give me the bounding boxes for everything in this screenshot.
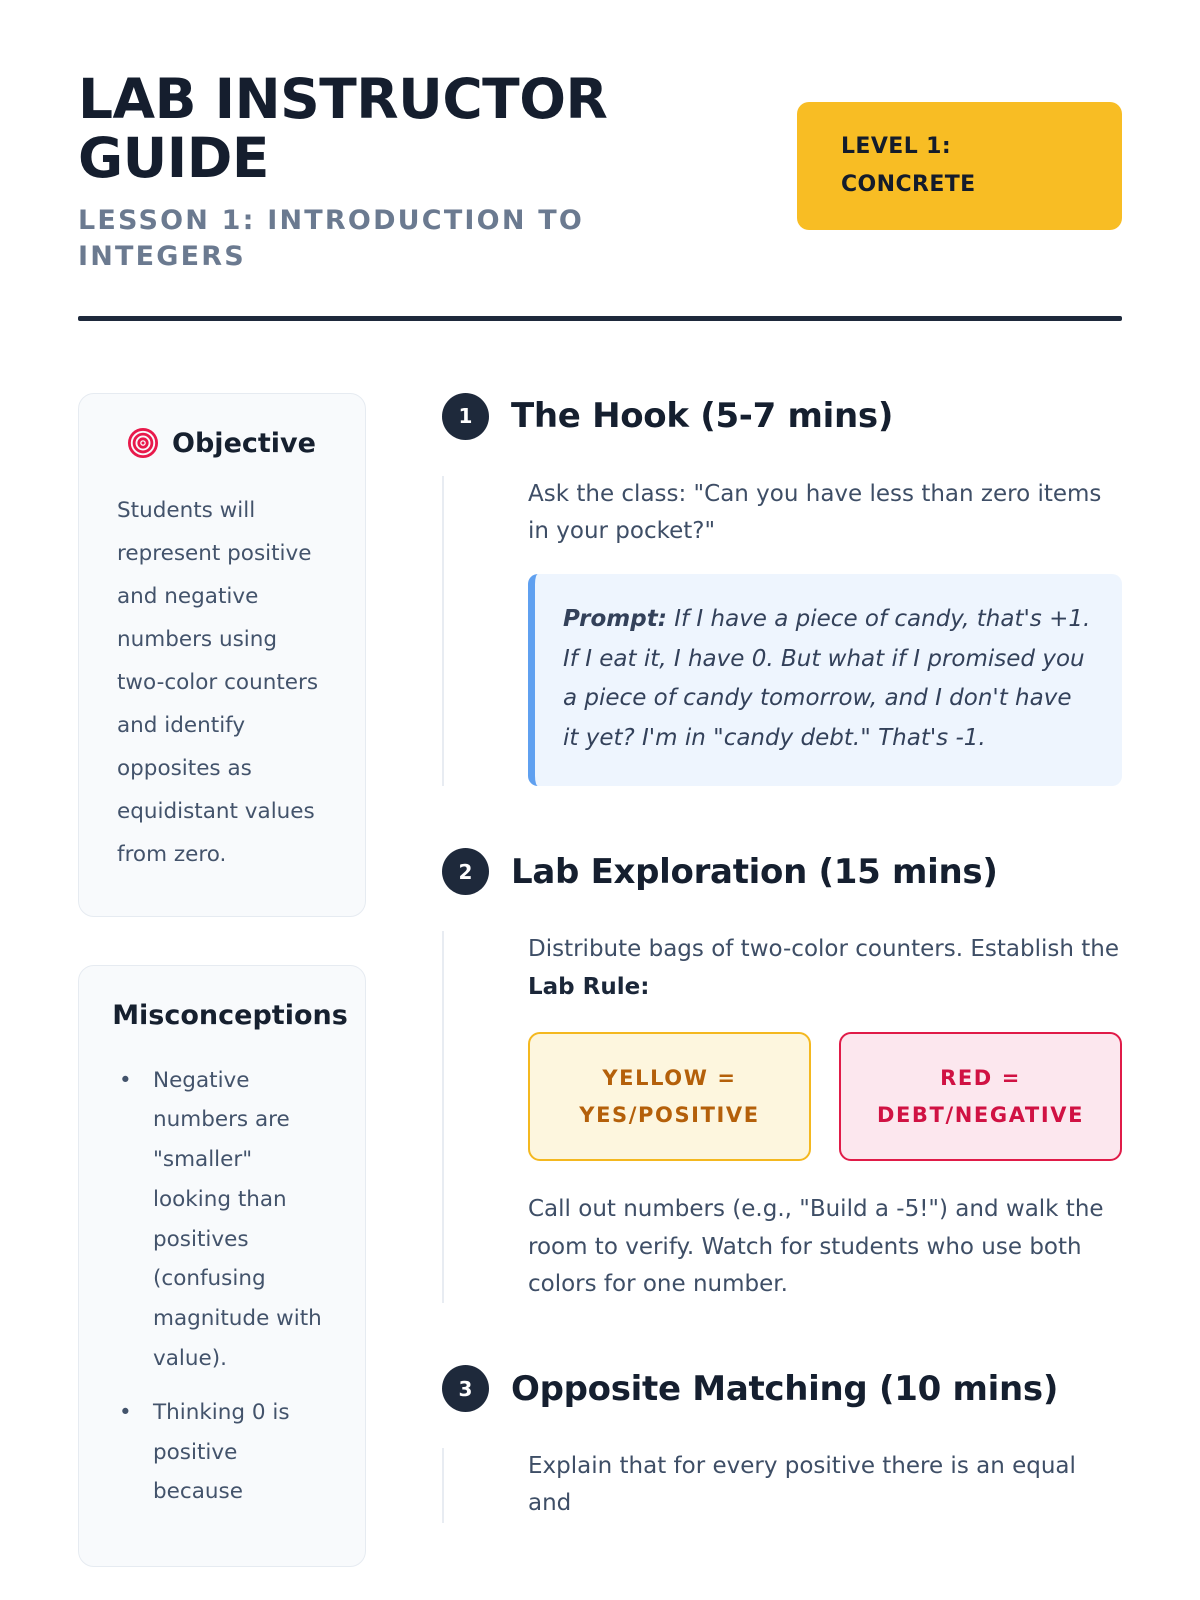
objective-card-body: Students will represent positive and neg…: [117, 489, 327, 876]
step-2-paragraph-1-text: Distribute bags of two-color counters. E…: [528, 936, 1119, 962]
step-2-paragraph-1: Distribute bags of two-color counters. E…: [528, 931, 1122, 1006]
content-grid: Objective Students will represent positi…: [78, 393, 1122, 1600]
step-3: 3 Opposite Matching (10 mins) Explain th…: [442, 1365, 1122, 1523]
misconceptions-title-text: Misconceptions: [112, 1000, 348, 1031]
step-1-content: Ask the class: "Can you have less than z…: [442, 476, 1122, 787]
step-1-number-badge: 1: [442, 393, 489, 440]
header-divider: [78, 316, 1122, 321]
rule-chip-row: YELLOW = YES/POSITIVE RED = DEBT/NEGATIV…: [528, 1032, 1122, 1162]
misconceptions-card: Misconceptions Negative numbers are "sma…: [78, 965, 366, 1567]
objective-card: Objective Students will represent positi…: [78, 393, 366, 917]
step-3-title: Opposite Matching (10 mins): [511, 1369, 1058, 1409]
step-2: 2 Lab Exploration (15 mins) Distribute b…: [442, 848, 1122, 1303]
page-header: LAB INSTRUCTOR GUIDE LESSON 1: INTRODUCT…: [78, 0, 1122, 276]
misconceptions-list: Negative numbers are "smaller" looking t…: [117, 1061, 327, 1512]
objective-card-title: Objective: [117, 428, 327, 459]
step-1: 1 The Hook (5-7 mins) Ask the class: "Ca…: [442, 393, 1122, 787]
step-2-paragraph-2: Call out numbers (e.g., "Build a -5!") a…: [528, 1191, 1122, 1303]
list-item: Negative numbers are "smaller" looking t…: [117, 1061, 327, 1379]
misconceptions-card-title: Misconceptions: [133, 1000, 327, 1031]
prompt-label: Prompt:: [563, 606, 667, 632]
step-3-content: Explain that for every positive there is…: [442, 1448, 1122, 1523]
step-2-header: 2 Lab Exploration (15 mins): [442, 848, 1122, 895]
page-subtitle: LESSON 1: INTRODUCTION TO INTEGERS: [78, 203, 718, 276]
step-2-number-badge: 2: [442, 848, 489, 895]
prompt-callout-text: Prompt: If I have a piece of candy, that…: [563, 600, 1092, 758]
level-badge-line2: CONCRETE: [841, 166, 1078, 204]
target-icon: [128, 428, 158, 458]
step-1-title: The Hook (5-7 mins): [511, 396, 893, 436]
header-text-block: LAB INSTRUCTOR GUIDE LESSON 1: INTRODUCT…: [78, 70, 718, 276]
lab-rule-label: Lab Rule:: [528, 974, 649, 1000]
list-item: Thinking 0 is positive because: [117, 1393, 327, 1512]
instructor-guide-page: LAB INSTRUCTOR GUIDE LESSON 1: INTRODUCT…: [0, 0, 1200, 1600]
step-2-title: Lab Exploration (15 mins): [511, 852, 998, 892]
step-3-number-badge: 3: [442, 1365, 489, 1412]
yellow-rule-chip: YELLOW = YES/POSITIVE: [528, 1032, 811, 1162]
level-badge-line1: LEVEL 1:: [841, 128, 1078, 166]
objective-title-text: Objective: [172, 428, 316, 459]
step-2-content: Distribute bags of two-color counters. E…: [442, 931, 1122, 1303]
prompt-callout: Prompt: If I have a piece of candy, that…: [528, 574, 1122, 786]
step-1-paragraph: Ask the class: "Can you have less than z…: [528, 476, 1122, 551]
page-title: LAB INSTRUCTOR GUIDE: [78, 70, 718, 189]
main-content: 1 The Hook (5-7 mins) Ask the class: "Ca…: [442, 393, 1122, 1585]
level-badge: LEVEL 1: CONCRETE: [797, 102, 1122, 230]
step-1-header: 1 The Hook (5-7 mins): [442, 393, 1122, 440]
step-3-paragraph: Explain that for every positive there is…: [528, 1448, 1122, 1523]
red-rule-chip: RED = DEBT/NEGATIVE: [839, 1032, 1122, 1162]
sidebar: Objective Students will represent positi…: [78, 393, 366, 1600]
step-3-header: 3 Opposite Matching (10 mins): [442, 1365, 1122, 1412]
